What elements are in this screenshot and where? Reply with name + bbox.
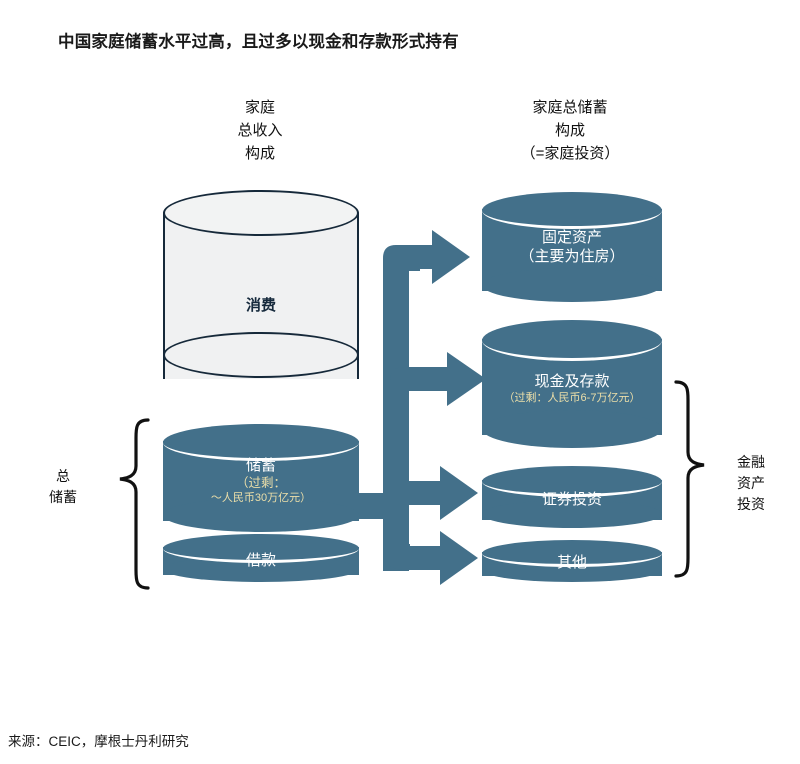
cylinder-other-top [482, 540, 662, 567]
column-header-left-line1: 家庭 [180, 96, 340, 119]
bracket-label-total-savings-line1: 总 [28, 466, 98, 487]
page-title: 中国家庭储蓄水平过高，且过多以现金和存款形式持有 [58, 28, 758, 52]
bracket-left [120, 420, 148, 588]
column-header-right-line1: 家庭总储蓄 [470, 96, 670, 119]
cylinder-fixed-assets: 固定资产 （主要为住房） [482, 192, 662, 310]
bracket-shapes [0, 0, 800, 764]
cylinder-consumption-top [163, 190, 359, 236]
bracket-right [676, 382, 704, 576]
cylinder-consumption: 消费 [163, 190, 359, 402]
cylinder-savings: 储蓄 （过剩： ～人民币30万亿元） [163, 424, 359, 540]
bracket-label-financial-assets-line1: 金融 [716, 452, 786, 473]
bracket-label-total-savings-line2: 储蓄 [28, 487, 98, 508]
column-header-right: 家庭总储蓄 构成 （=家庭投资） [470, 96, 670, 165]
cylinder-savings-bottom [163, 498, 359, 532]
flow-arrows [0, 0, 800, 764]
source-note: 来源：CEIC，摩根士丹利研究 [8, 730, 189, 750]
cylinder-borrowing-top [163, 534, 359, 563]
bracket-label-financial-assets-line2: 资产 [716, 473, 786, 494]
bracket-label-total-savings: 总 储蓄 [28, 466, 98, 508]
cylinder-savings-top [163, 424, 359, 461]
cylinder-borrowing: 借款 [163, 534, 359, 588]
cylinder-cash-deposits-bottom [482, 410, 662, 448]
bracket-label-financial-assets: 金融 资产 投资 [716, 452, 786, 515]
cylinder-securities-bottom [482, 500, 662, 528]
column-header-right-line3: （=家庭投资） [470, 142, 670, 165]
bracket-label-financial-assets-line3: 投资 [716, 494, 786, 515]
cylinder-securities: 证券投资 [482, 466, 662, 534]
cylinder-securities-top [482, 466, 662, 497]
infographic-canvas: 中国家庭储蓄水平过高，且过多以现金和存款形式持有 家庭 总收入 构成 家庭总储蓄… [0, 0, 800, 764]
column-header-left-line2: 总收入 [180, 119, 340, 142]
cylinder-fixed-assets-bottom [482, 268, 662, 302]
cylinder-other: 其他 [482, 540, 662, 588]
cylinder-cash-deposits: 现金及存款 （过剩：人民币6-7万亿元） [482, 320, 662, 456]
cylinder-fixed-assets-top [482, 192, 662, 229]
cylinder-consumption-bottom [163, 332, 359, 378]
column-header-left-line3: 构成 [180, 142, 340, 165]
column-header-right-line2: 构成 [470, 119, 670, 142]
column-header-left: 家庭 总收入 构成 [180, 96, 340, 165]
cylinder-cash-deposits-top [482, 320, 662, 361]
